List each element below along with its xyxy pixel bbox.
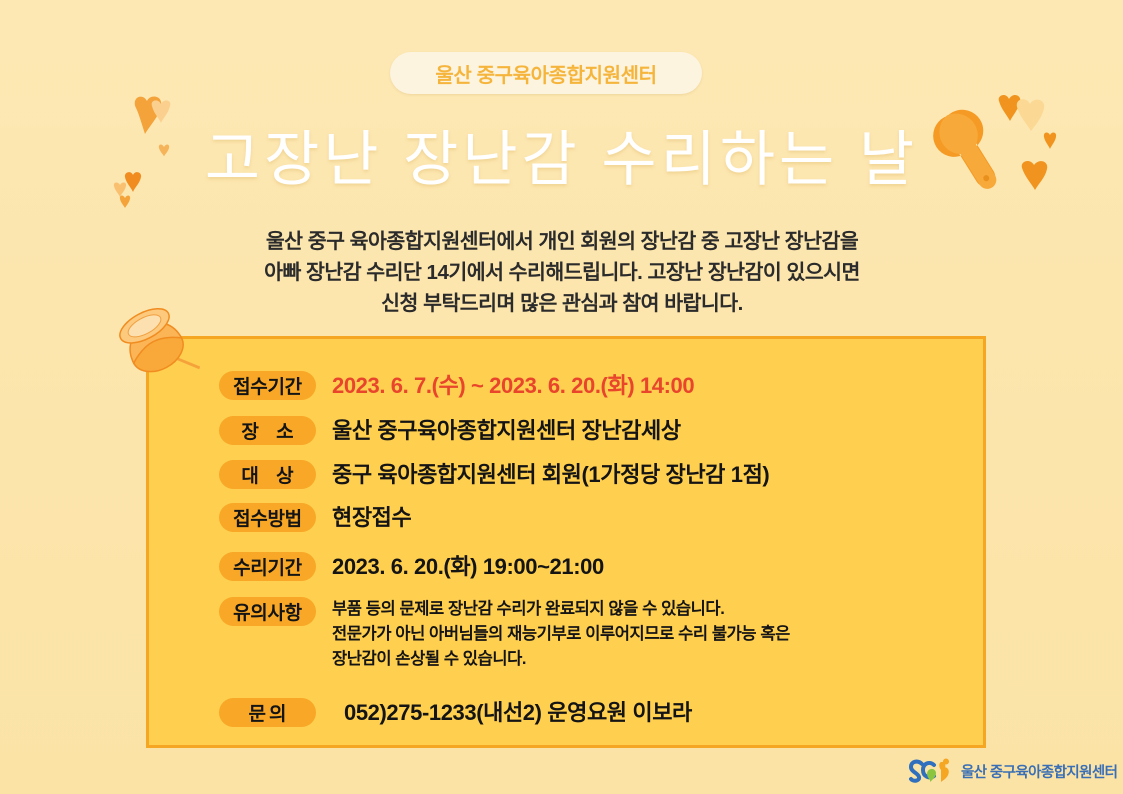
wrench-icon — [928, 108, 1000, 196]
info-label-contact: 문의 — [219, 698, 316, 727]
info-row-method: 접수방법 현장접수 — [219, 503, 411, 532]
intro-line-2: 아빠 장난감 수리단 14기에서 수리해드립니다. 고장난 장난감이 있으시면 — [120, 257, 1004, 288]
info-value-repair-period: 2023. 6. 20.(화) 19:00~21:00 — [332, 552, 604, 581]
info-value-place: 울산 중구육아종합지원센터 장난감세상 — [332, 416, 681, 445]
info-value-notice: 부품 등의 문제로 장난감 수리가 완료되지 않을 수 있습니다. 전문가가 아… — [332, 597, 790, 672]
heart-icon — [113, 203, 114, 204]
info-row-receipt-period: 접수기간 2023. 6. 7.(수) ~ 2023. 6. 20.(화) 14… — [219, 371, 694, 400]
info-row-repair-period: 수리기간 2023. 6. 20.(화) 19:00~21:00 — [219, 552, 604, 581]
notice-line-1: 부품 등의 문제로 장난감 수리가 완료되지 않을 수 있습니다. — [332, 597, 790, 622]
info-row-notice: 유의사항 부품 등의 문제로 장난감 수리가 완료되지 않을 수 있습니다. 전… — [219, 597, 790, 672]
heart-icon — [121, 322, 122, 323]
info-row-contact: 문의 052)275-1233(내선2) 운영요원 이보라 — [219, 698, 692, 727]
footer-logo-label: 울산 중구육아종합지원센터 — [961, 761, 1117, 782]
info-value-contact: 052)275-1233(내선2) 운영요원 이보라 — [344, 698, 692, 727]
info-label-notice: 유의사항 — [219, 597, 316, 626]
info-card: 접수기간 2023. 6. 7.(수) ~ 2023. 6. 20.(화) 14… — [146, 336, 986, 748]
info-label-place: 장 소 — [219, 416, 316, 445]
page-title: 고장난 장난감 수리하는 날 — [205, 111, 918, 198]
info-label-repair-period: 수리기간 — [219, 552, 316, 581]
info-value-target: 중구 육아종합지원센터 회원(1가정당 장난감 1점) — [332, 460, 769, 489]
center-logo-icon — [908, 758, 954, 784]
info-row-target: 대 상 중구 육아종합지원센터 회원(1가정당 장난감 1점) — [219, 460, 769, 489]
info-label-receipt-period: 접수기간 — [219, 371, 316, 400]
info-value-receipt-period: 2023. 6. 7.(수) ~ 2023. 6. 20.(화) 14:00 — [332, 371, 694, 400]
poster-canvas: 울산 중구육아종합지원센터 고장난 장난감 수리하는 날 울산 중구 육아종합지… — [0, 0, 1123, 794]
info-row-place: 장 소 울산 중구육아종합지원센터 장난감세상 — [219, 416, 681, 445]
intro-paragraph: 울산 중구 육아종합지원센터에서 개인 회원의 장난감 중 고장난 장난감을 아… — [120, 226, 1004, 319]
notice-line-3: 장난감이 손상될 수 있습니다. — [332, 647, 790, 672]
intro-line-3: 신청 부탁드리며 많은 관심과 참여 바랍니다. — [120, 288, 1004, 319]
footer-logo: 울산 중구육아종합지원센터 — [908, 758, 1117, 784]
org-badge: 울산 중구육아종합지원센터 — [390, 52, 702, 94]
heart-icon — [1043, 103, 1044, 104]
info-label-method: 접수방법 — [219, 503, 316, 532]
info-value-method: 현장접수 — [332, 503, 411, 532]
info-label-target: 대 상 — [219, 460, 316, 489]
org-badge-label: 울산 중구육아종합지원센터 — [435, 59, 656, 88]
notice-line-2: 전문가가 아닌 아버님들의 재능기부로 이루어지므로 수리 불가능 혹은 — [332, 622, 790, 647]
intro-line-1: 울산 중구 육아종합지원센터에서 개인 회원의 장난감 중 고장난 장난감을 — [120, 226, 1004, 257]
